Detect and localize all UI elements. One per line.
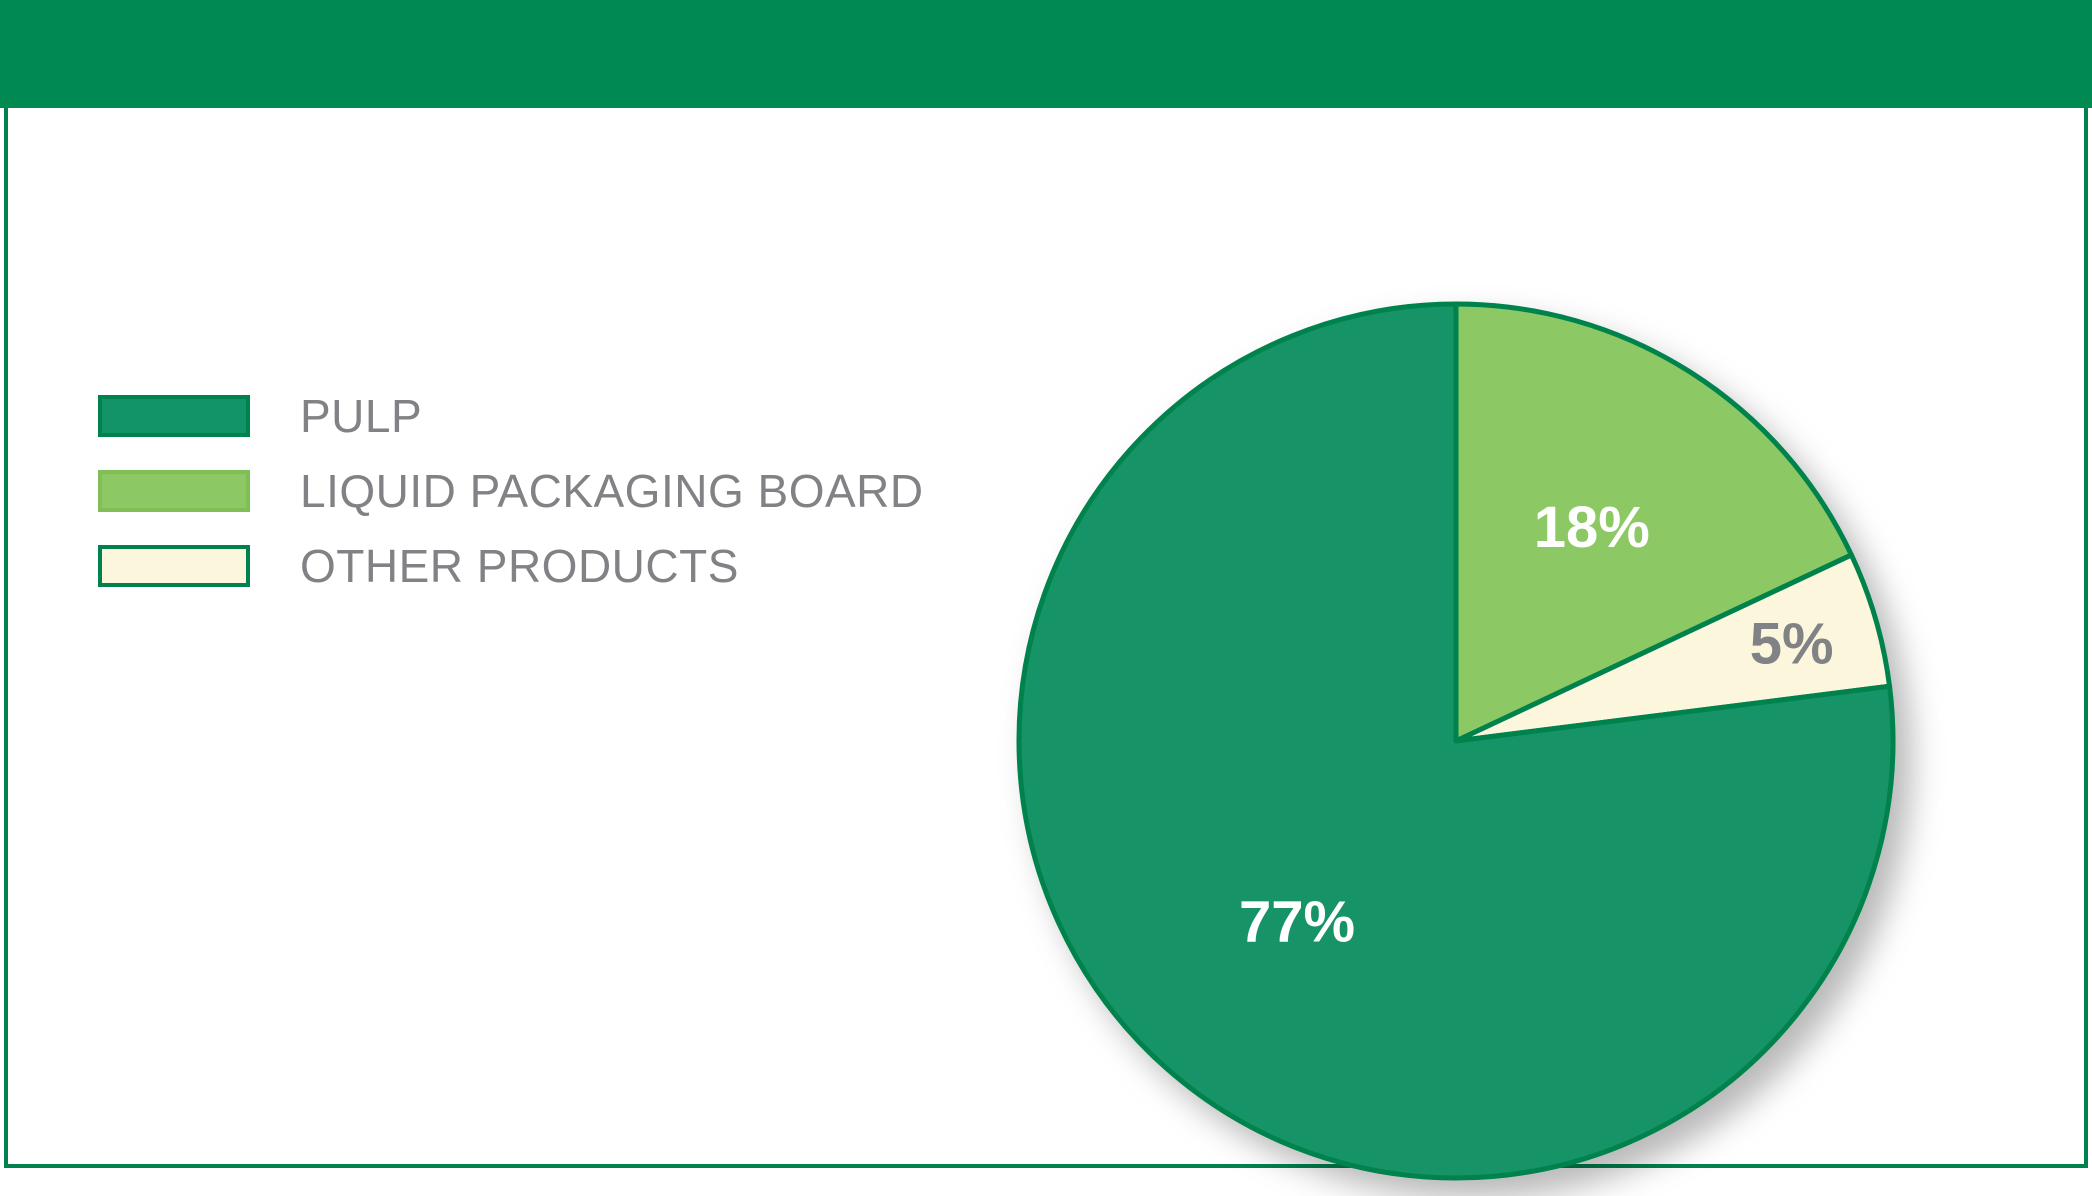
legend-swatch-other-products [98, 545, 250, 587]
chart-legend: PULP LIQUID PACKAGING BOARD OTHER PRODUC… [98, 378, 918, 603]
pie-chart-svg: 18%5%77% [968, 248, 1968, 1196]
chart-card: PULP LIQUID PACKAGING BOARD OTHER PRODUC… [4, 108, 2088, 1168]
pie-chart: 18%5%77% [968, 248, 1968, 1196]
legend-item-other-products[interactable]: OTHER PRODUCTS [98, 528, 918, 603]
legend-swatch-pulp [98, 395, 250, 437]
pie-slice-group [1019, 304, 1893, 1178]
legend-label-liquid-packaging-board: LIQUID PACKAGING BOARD [300, 464, 924, 518]
header-green-band [0, 0, 2092, 108]
pie-label-liquid-packaging-board: 18% [1534, 495, 1650, 560]
pie-label-other-products: 5% [1750, 612, 1834, 677]
legend-label-pulp: PULP [300, 389, 422, 443]
screenshot-root: PULP LIQUID PACKAGING BOARD OTHER PRODUC… [0, 0, 2092, 1196]
legend-item-liquid-packaging-board[interactable]: LIQUID PACKAGING BOARD [98, 453, 918, 528]
legend-item-pulp[interactable]: PULP [98, 378, 918, 453]
legend-label-other-products: OTHER PRODUCTS [300, 539, 739, 593]
pie-label-pulp: 77% [1239, 889, 1355, 954]
legend-swatch-liquid-packaging-board [98, 470, 250, 512]
